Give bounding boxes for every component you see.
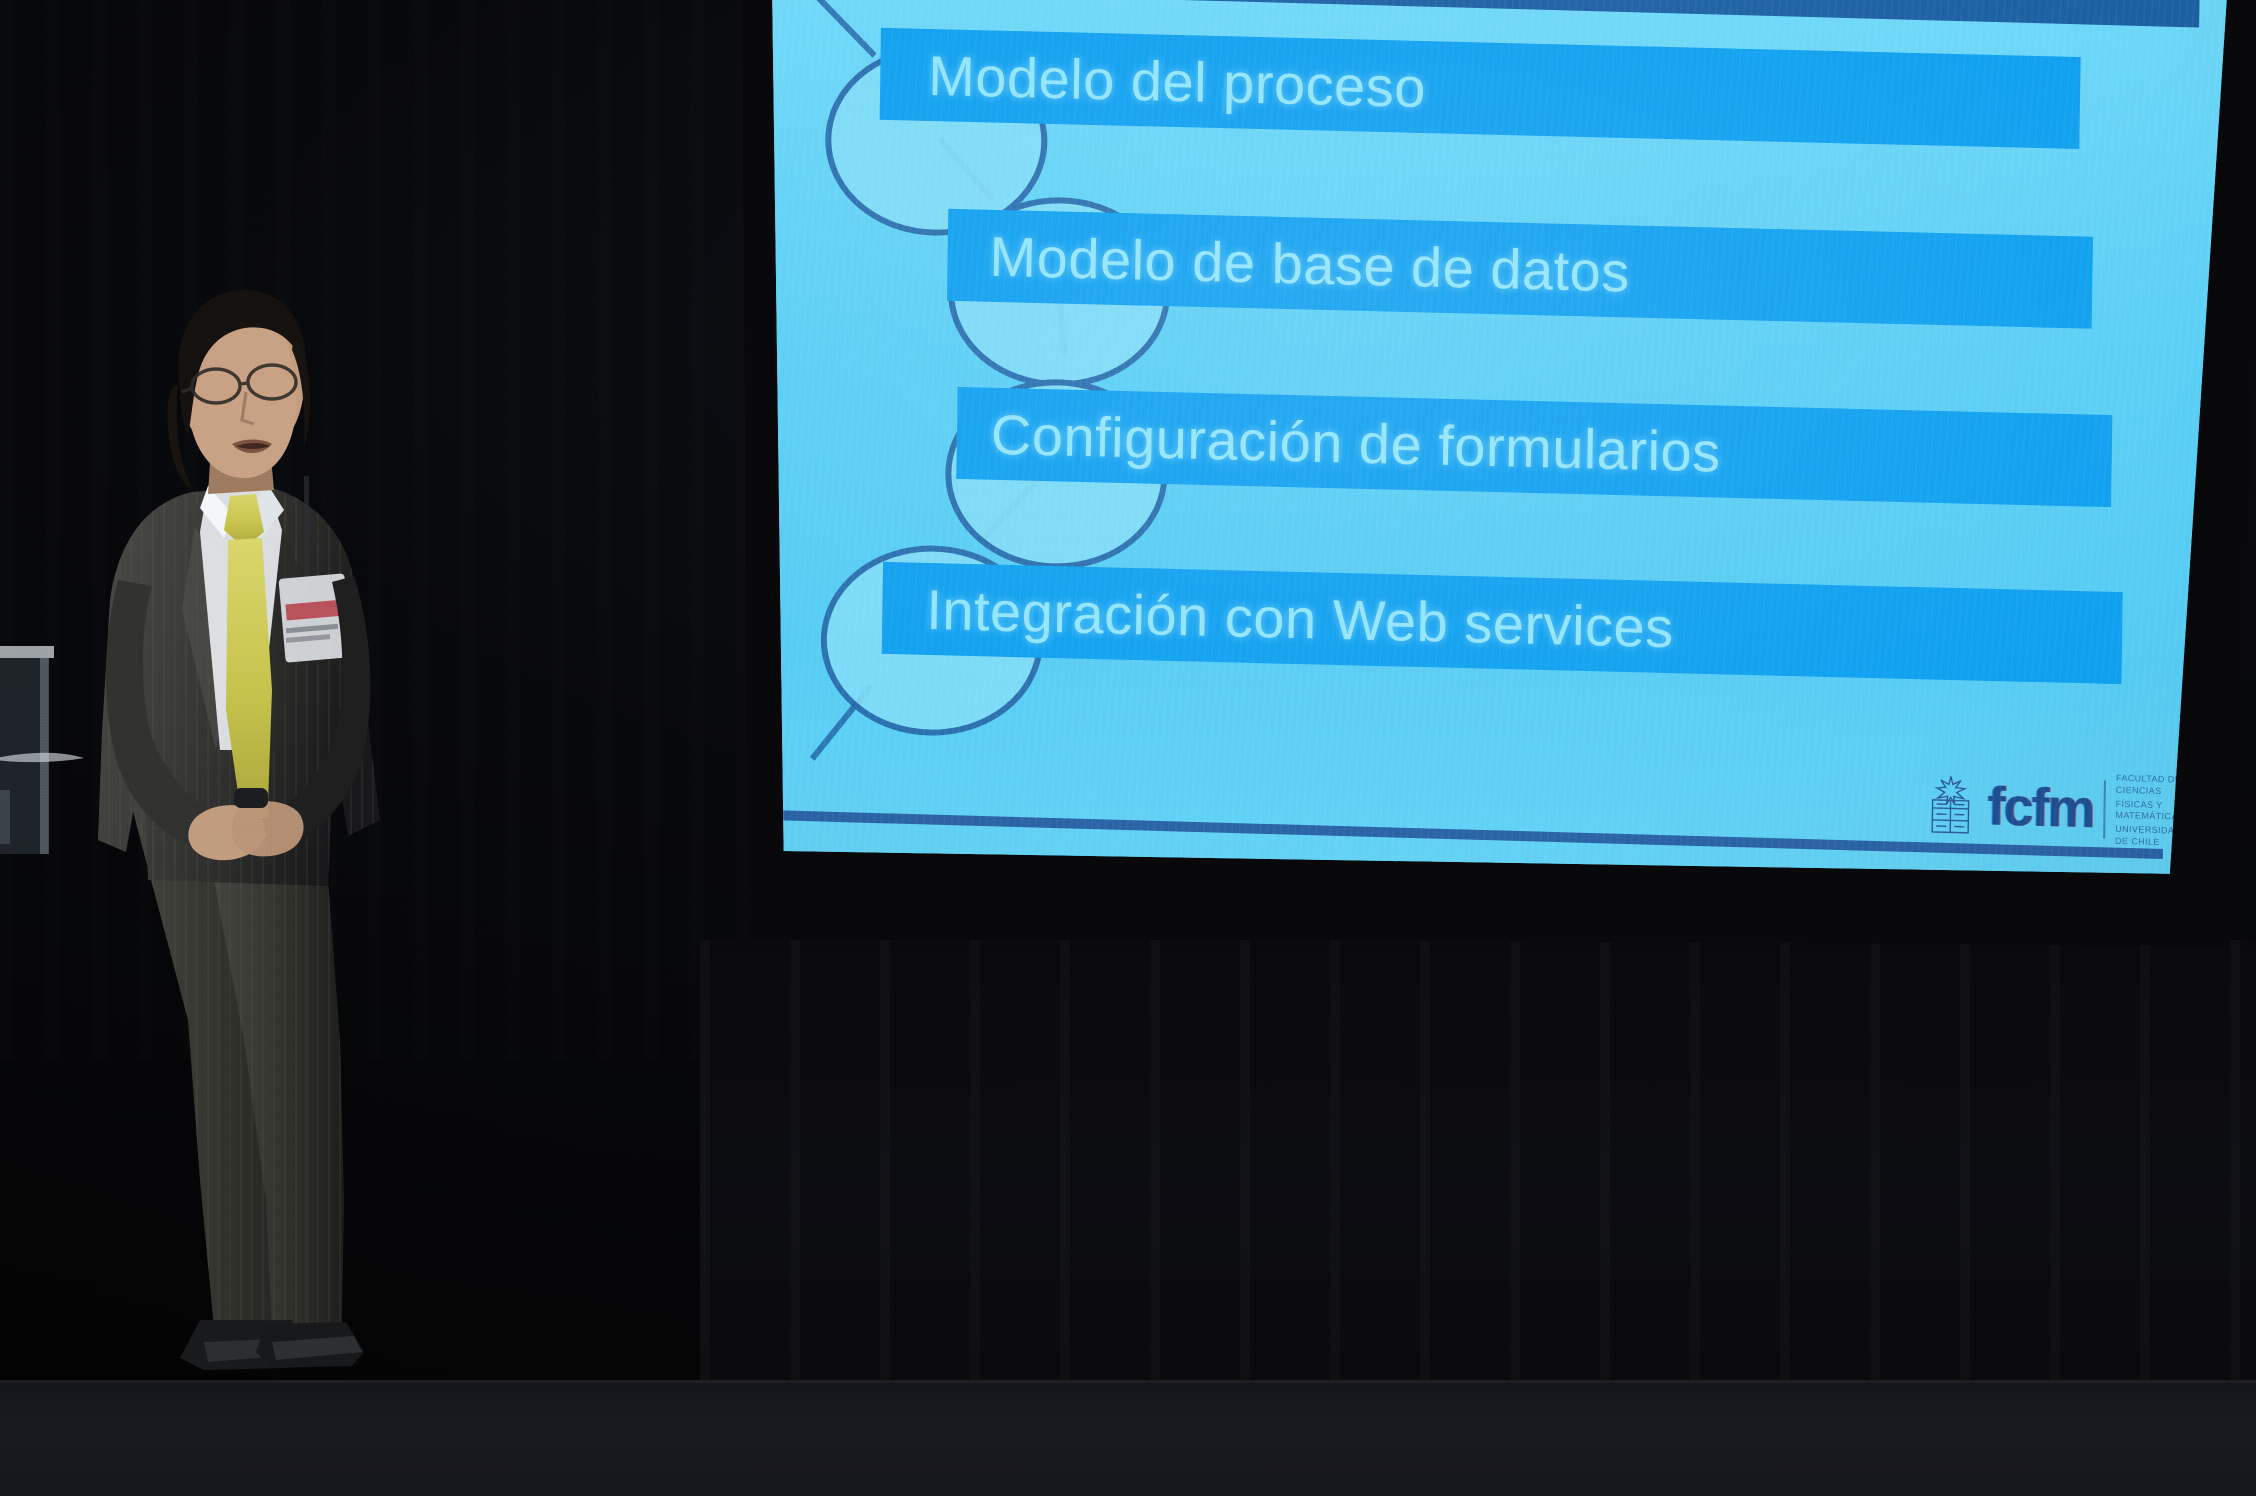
fcfm-wordmark: fcfm [1987,779,2094,836]
speaker-figure [96,280,516,1440]
stage-front-panel [700,940,2256,1390]
projection-screen: Modelo del proceso Modelo de base de dat… [772,0,2228,892]
presenter-remote [234,788,268,808]
slide-bullet-1: Modelo del proceso [880,28,2081,149]
fcfm-logo: fcfm FACULTAD DE CIENCIAS FÍSICAS Y MATE… [1923,764,2192,853]
photo-canvas: Modelo del proceso Modelo de base de dat… [0,0,2256,1496]
slide-bullet-2-label: Modelo de base de datos [947,222,1630,304]
fcfm-logo-divider [2103,781,2106,839]
lectern-top-edge [0,646,54,658]
slide-bullet-4-label: Integración con Web services [882,575,1674,659]
slide-content: Modelo del proceso Modelo de base de dat… [772,0,2228,892]
universidad-de-chile-crest-icon [1923,774,1978,837]
slide-bullet-list: Modelo del proceso Modelo de base de dat… [772,0,2228,892]
slide-bullet-3: Configuración de formularios [956,387,2112,507]
stage-front-ribs [700,940,2256,1390]
lectern [0,640,96,1000]
slide-bullet-2: Modelo de base de datos [947,209,2093,329]
speaker-shoes [180,1320,364,1370]
speaker-head [167,290,309,494]
slide-bullet-1-label: Modelo del proceso [880,41,1427,119]
slide-bullet-3-label: Configuración de formularios [956,400,1721,484]
slide-bullet-4: Integración con Web services [882,562,2123,684]
